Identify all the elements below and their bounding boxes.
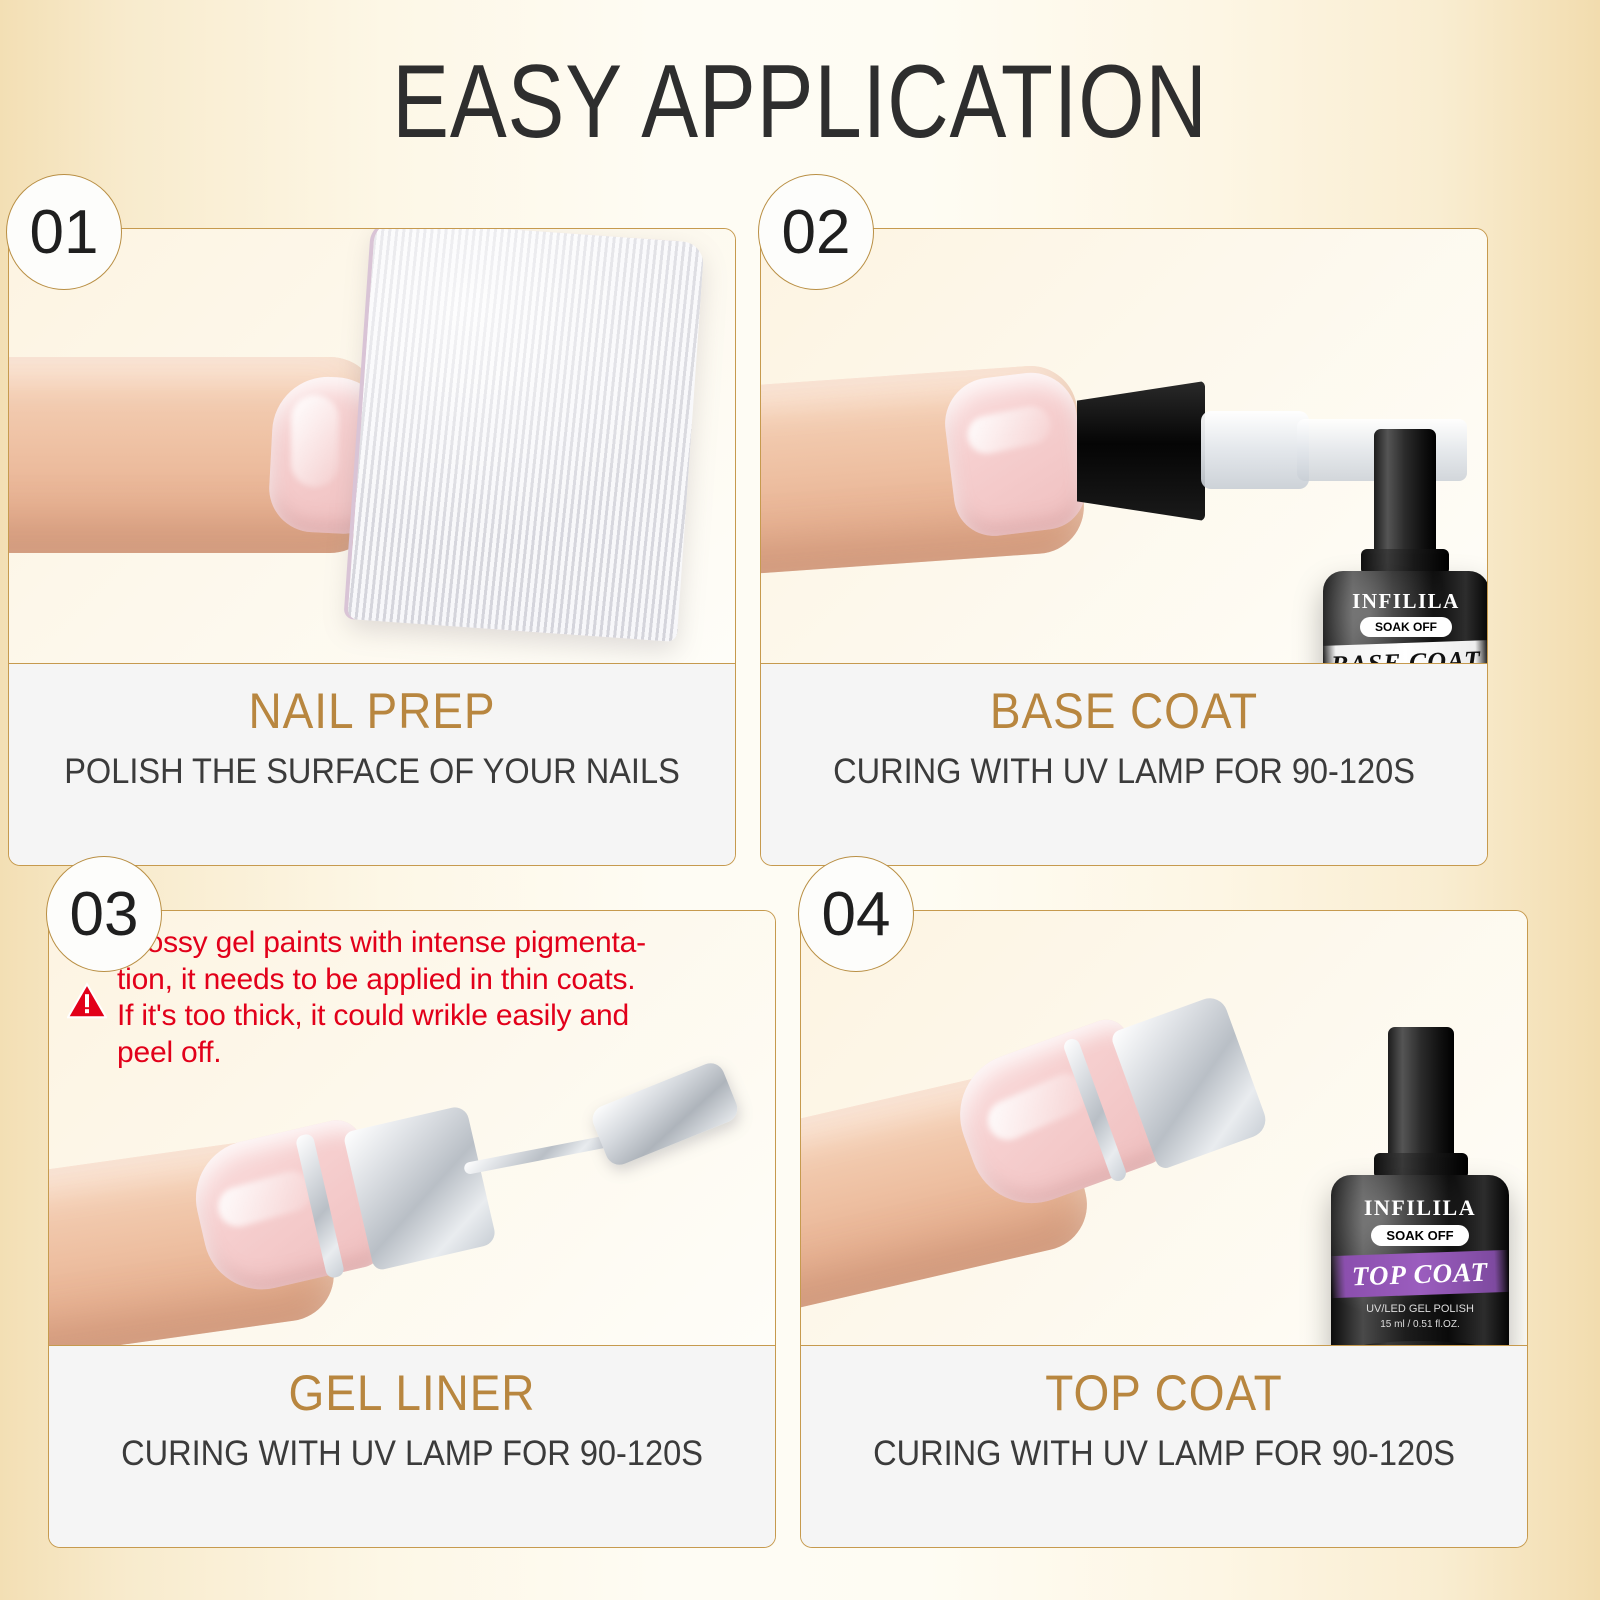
step-04-photo: INFILILA SOAK OFF TOP COAT UV/LED GEL PO… bbox=[801, 911, 1527, 1345]
soak-off-badge: SOAK OFF bbox=[1371, 1225, 1469, 1246]
step-01-subtitle: POLISH THE SURFACE OF YOUR NAILS bbox=[34, 752, 709, 792]
product-name-swash: TOP COAT bbox=[1331, 1250, 1509, 1298]
step-03-caption: GEL LINER CURING WITH UV LAMP FOR 90-120… bbox=[49, 1345, 775, 1547]
step-01-heading: NAIL PREP bbox=[38, 682, 706, 740]
soak-off-badge: SOAK OFF bbox=[1360, 617, 1452, 637]
brush-handle bbox=[1201, 411, 1309, 489]
page-title: EASY APPLICATION bbox=[144, 48, 1456, 157]
bottle-line-1: UV/LED GEL POLISH bbox=[1331, 1303, 1509, 1315]
bottle-product-name: TOP COAT bbox=[1351, 1256, 1488, 1292]
bottle-brand: INFILILA bbox=[1323, 589, 1487, 614]
warning-text: Glossy gel paints with intense pigmenta-… bbox=[117, 925, 646, 1071]
polish-brush-icon bbox=[1077, 381, 1205, 521]
steps-grid: NAIL PREP POLISH THE SURFACE OF YOUR NAI… bbox=[0, 228, 1600, 1568]
step-04-heading: TOP COAT bbox=[830, 1364, 1498, 1422]
bottle-body: INFILILA SOAK OFF TOP COAT UV/LED GEL PO… bbox=[1331, 1175, 1509, 1345]
bottle-cap bbox=[1374, 429, 1436, 555]
bottle-cap bbox=[1388, 1027, 1454, 1159]
step-card-01: NAIL PREP POLISH THE SURFACE OF YOUR NAI… bbox=[8, 228, 736, 866]
bottle-product-name: BASE COAT bbox=[1331, 645, 1482, 663]
step-03-heading: GEL LINER bbox=[78, 1364, 746, 1422]
step-badge-03: 03 bbox=[46, 856, 162, 972]
bottle-brand: INFILILA bbox=[1331, 1195, 1509, 1221]
step-04-subtitle: CURING WITH UV LAMP FOR 90-120S bbox=[826, 1434, 1501, 1474]
step-04-caption: TOP COAT CURING WITH UV LAMP FOR 90-120S bbox=[801, 1345, 1527, 1547]
step-badge-04: 04 bbox=[798, 856, 914, 972]
base-coated-nail bbox=[940, 368, 1090, 541]
step-01-photo bbox=[9, 229, 735, 663]
step-02-caption: BASE COAT CURING WITH UV LAMP FOR 90-120… bbox=[761, 663, 1487, 865]
nail-shine bbox=[291, 395, 339, 487]
step-02-heading: BASE COAT bbox=[790, 682, 1458, 740]
step-card-03: Glossy gel paints with intense pigmenta-… bbox=[48, 910, 776, 1548]
step-card-04: INFILILA SOAK OFF TOP COAT UV/LED GEL PO… bbox=[800, 910, 1528, 1548]
step-02-subtitle: CURING WITH UV LAMP FOR 90-120S bbox=[786, 752, 1461, 792]
step-03-subtitle: CURING WITH UV LAMP FOR 90-120S bbox=[74, 1434, 749, 1474]
bottle-base-ring bbox=[1339, 1341, 1501, 1345]
base-coat-bottle: INFILILA SOAK OFF BASE COAT UV/LED GEL P… bbox=[1315, 429, 1487, 663]
bottle-body: INFILILA SOAK OFF BASE COAT UV/LED GEL P… bbox=[1323, 571, 1487, 663]
infographic-page: EASY APPLICATION NAIL PREP POLISH THE SU… bbox=[0, 0, 1600, 1600]
step-card-02: INFILILA SOAK OFF BASE COAT UV/LED GEL P… bbox=[760, 228, 1488, 866]
warning-block: Glossy gel paints with intense pigmenta-… bbox=[67, 925, 707, 1071]
product-name-swash: BASE COAT bbox=[1323, 640, 1487, 663]
step-badge-02: 02 bbox=[758, 174, 874, 290]
step-01-caption: NAIL PREP POLISH THE SURFACE OF YOUR NAI… bbox=[9, 663, 735, 865]
file-grit-texture bbox=[347, 229, 704, 642]
step-02-photo: INFILILA SOAK OFF BASE COAT UV/LED GEL P… bbox=[761, 229, 1487, 663]
step-03-photo: Glossy gel paints with intense pigmenta-… bbox=[49, 911, 775, 1345]
nail-file-icon bbox=[347, 229, 704, 642]
top-coat-bottle: INFILILA SOAK OFF TOP COAT UV/LED GEL PO… bbox=[1321, 1027, 1521, 1345]
liner-brush-tip bbox=[463, 1135, 611, 1175]
bottle-line-2: 15 ml / 0.51 fl.OZ. bbox=[1331, 1319, 1509, 1330]
liner-brush-handle bbox=[588, 1059, 741, 1169]
step-badge-01: 01 bbox=[6, 174, 122, 290]
